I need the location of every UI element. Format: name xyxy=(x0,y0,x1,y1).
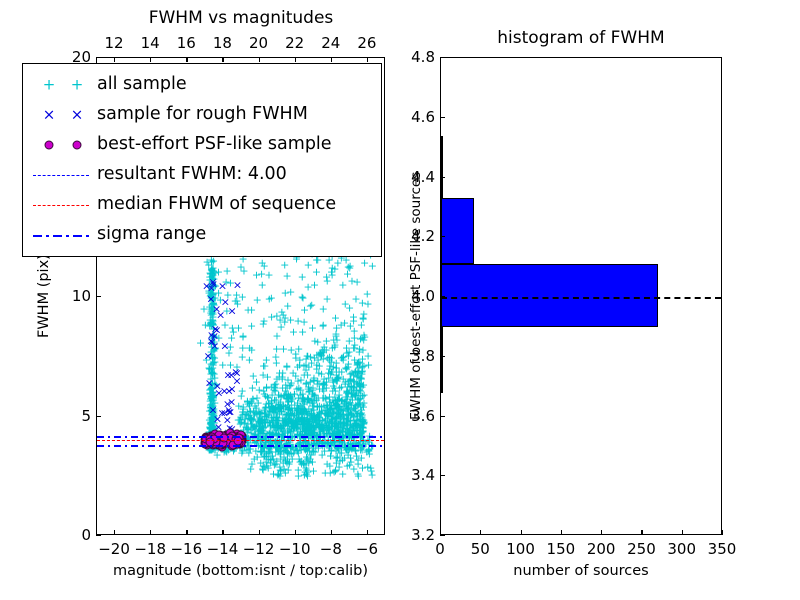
histogram-reference-line xyxy=(441,297,721,299)
scatter-point-all-sample: + xyxy=(337,411,346,422)
scatter-point-all-sample: + xyxy=(235,415,244,426)
scatter-point-all-sample: + xyxy=(316,422,325,433)
scatter-point-all-sample: + xyxy=(207,337,216,348)
scatter-point-all-sample: + xyxy=(286,416,295,427)
scatter-point-all-sample: + xyxy=(348,388,357,399)
scatter-point-all-sample: + xyxy=(250,454,259,465)
scatter-point-all-sample: + xyxy=(277,445,286,456)
legend-item-2[interactable]: best-effort PSF-like sample xyxy=(23,130,381,160)
scatter-point-all-sample: + xyxy=(206,401,215,412)
scatter-point-all-sample: + xyxy=(331,363,340,374)
scatter-point-all-sample: + xyxy=(209,256,218,267)
scatter-point-all-sample: + xyxy=(328,385,337,396)
scatter-point-all-sample: + xyxy=(286,407,295,418)
legend-marker-dot-icon xyxy=(73,141,82,150)
scatter-point-all-sample: + xyxy=(337,367,346,378)
scatter-point-all-sample: + xyxy=(219,447,228,458)
scatter-point-all-sample: + xyxy=(243,406,252,417)
scatter-point-all-sample: + xyxy=(330,391,339,402)
scatter-point-all-sample: + xyxy=(281,418,290,429)
scatter-point-all-sample: + xyxy=(367,466,376,477)
scatter-point-all-sample: + xyxy=(308,398,317,409)
scatter-point-all-sample: + xyxy=(358,391,367,402)
scatter-point-rough-sample: × xyxy=(220,407,229,418)
scatter-point-all-sample: + xyxy=(352,429,361,440)
scatter-point-all-sample: + xyxy=(331,464,340,475)
scatter-point-all-sample: + xyxy=(336,320,345,331)
scatter-point-all-sample: + xyxy=(208,407,217,418)
scatter-point-all-sample: + xyxy=(349,425,358,436)
scatter-point-all-sample: + xyxy=(353,408,362,419)
scatter-point-all-sample: + xyxy=(285,403,294,414)
scatter-point-all-sample: + xyxy=(240,437,249,448)
scatter-point-all-sample: + xyxy=(238,406,247,417)
scatter-point-all-sample: + xyxy=(307,420,316,431)
scatter-point-all-sample: + xyxy=(267,415,276,426)
scatter-point-all-sample: + xyxy=(323,410,332,421)
scatter-point-all-sample: + xyxy=(315,383,324,394)
scatter-point-all-sample: + xyxy=(266,420,275,431)
scatter-point-all-sample: + xyxy=(353,429,362,440)
histogram-bar xyxy=(441,327,443,393)
scatter-point-all-sample: + xyxy=(278,382,287,393)
scatter-point-all-sample: + xyxy=(291,415,300,426)
scatter-point-all-sample: + xyxy=(208,392,217,403)
scatter-point-all-sample: + xyxy=(204,286,213,297)
scatter-point-all-sample: + xyxy=(208,367,217,378)
scatter-point-all-sample: + xyxy=(317,420,326,431)
scatter-point-all-sample: + xyxy=(357,452,366,463)
scatter-point-psf-sample xyxy=(216,431,225,440)
scatter-point-all-sample: + xyxy=(264,398,273,409)
scatter-point-all-sample: + xyxy=(286,391,295,402)
tick-label: −8 xyxy=(320,540,342,558)
scatter-point-all-sample: + xyxy=(344,350,353,361)
scatter-point-all-sample: + xyxy=(325,403,334,414)
scatter-point-all-sample: + xyxy=(268,401,277,412)
scatter-point-all-sample: + xyxy=(304,457,313,468)
scatter-point-all-sample: + xyxy=(257,269,266,280)
scatter-point-all-sample: + xyxy=(269,419,278,430)
legend-key-dot-icon xyxy=(23,130,97,160)
tick-label: −12 xyxy=(243,540,275,558)
scatter-point-all-sample: + xyxy=(329,381,338,392)
scatter-point-all-sample: + xyxy=(296,415,305,426)
scatter-point-all-sample: + xyxy=(296,406,305,417)
scatter-point-all-sample: + xyxy=(272,412,281,423)
scatter-point-all-sample: + xyxy=(310,447,319,458)
scatter-point-all-sample: + xyxy=(298,409,307,420)
scatter-point-all-sample: + xyxy=(303,424,312,435)
scatter-point-all-sample: + xyxy=(294,412,303,423)
scatter-point-all-sample: + xyxy=(346,368,355,379)
scatter-point-all-sample: + xyxy=(206,369,215,380)
scatter-point-all-sample: + xyxy=(321,392,330,403)
scatter-point-all-sample: + xyxy=(349,464,358,475)
scatter-point-all-sample: + xyxy=(209,410,218,421)
legend-item-1[interactable]: ××sample for rough FWHM xyxy=(23,100,381,130)
scatter-point-all-sample: + xyxy=(206,281,215,292)
scatter-point-all-sample: + xyxy=(223,290,232,301)
scatter-point-all-sample: + xyxy=(331,399,340,410)
scatter-point-all-sample: + xyxy=(334,422,343,433)
scatter-point-all-sample: + xyxy=(331,417,340,428)
scatter-point-all-sample: + xyxy=(272,419,281,430)
scatter-point-all-sample: + xyxy=(207,408,216,419)
scatter-point-all-sample: + xyxy=(318,421,327,432)
scatter-point-all-sample: + xyxy=(266,406,275,417)
scatter-point-all-sample: + xyxy=(327,357,336,368)
scatter-point-all-sample: + xyxy=(272,401,281,412)
scatter-point-all-sample: + xyxy=(324,425,333,436)
scatter-point-all-sample: + xyxy=(302,422,311,433)
scatter-point-all-sample: + xyxy=(211,343,220,354)
scatter-point-all-sample: + xyxy=(338,429,347,440)
scatter-point-all-sample: + xyxy=(260,411,269,422)
scatter-point-all-sample: + xyxy=(323,403,332,414)
scatter-point-all-sample: + xyxy=(232,295,241,306)
scatter-point-all-sample: + xyxy=(358,423,367,434)
scatter-point-all-sample: + xyxy=(292,403,301,414)
scatter-point-all-sample: + xyxy=(213,449,222,460)
scatter-point-all-sample: + xyxy=(209,323,218,334)
scatter-point-all-sample: + xyxy=(328,263,337,274)
scatter-point-all-sample: + xyxy=(202,355,211,366)
scatter-point-all-sample: + xyxy=(319,425,328,436)
scatter-point-all-sample: + xyxy=(325,460,334,471)
scatter-point-all-sample: + xyxy=(334,405,343,416)
scatter-point-all-sample: + xyxy=(316,351,325,362)
scatter-point-all-sample: + xyxy=(207,367,216,378)
scatter-point-all-sample: + xyxy=(243,399,252,410)
scatter-point-all-sample: + xyxy=(210,429,219,440)
scatter-point-all-sample: + xyxy=(280,313,289,324)
scatter-point-all-sample: + xyxy=(299,419,308,430)
scatter-point-all-sample: + xyxy=(329,398,338,409)
scatter-point-all-sample: + xyxy=(318,424,327,435)
scatter-point-all-sample: + xyxy=(282,388,291,399)
scatter-point-all-sample: + xyxy=(309,421,318,432)
scatter-point-all-sample: + xyxy=(243,437,252,448)
scatter-point-all-sample: + xyxy=(208,352,217,363)
tick-label: −20 xyxy=(98,540,130,558)
scatter-point-all-sample: + xyxy=(338,352,347,363)
scatter-point-all-sample: + xyxy=(277,404,286,415)
scatter-point-all-sample: + xyxy=(329,397,338,408)
scatter-point-all-sample: + xyxy=(350,367,359,378)
scatter-point-all-sample: + xyxy=(257,416,266,427)
scatter-point-all-sample: + xyxy=(206,292,215,303)
scatter-point-all-sample: + xyxy=(339,374,348,385)
scatter-point-all-sample: + xyxy=(300,421,309,432)
scatter-point-all-sample: + xyxy=(363,462,372,473)
scatter-point-all-sample: + xyxy=(358,414,367,425)
scatter-point-all-sample: + xyxy=(359,417,368,428)
scatter-point-all-sample: + xyxy=(206,422,215,433)
scatter-point-all-sample: + xyxy=(311,412,320,423)
scatter-point-all-sample: + xyxy=(345,260,354,271)
scatter-point-all-sample: + xyxy=(236,261,245,272)
scatter-point-all-sample: + xyxy=(304,433,313,444)
scatter-point-all-sample: + xyxy=(214,287,223,298)
scatter-point-all-sample: + xyxy=(343,361,352,372)
scatter-point-all-sample: + xyxy=(335,393,344,404)
legend-item-0[interactable]: ++all sample xyxy=(23,70,381,100)
legend-item-5[interactable]: sigma range xyxy=(23,220,381,250)
scatter-point-all-sample: + xyxy=(279,419,288,430)
scatter-point-all-sample: + xyxy=(350,415,359,426)
scatter-point-all-sample: + xyxy=(326,405,335,416)
scatter-point-all-sample: + xyxy=(284,404,293,415)
scatter-point-all-sample: + xyxy=(234,322,243,333)
scatter-point-all-sample: + xyxy=(349,315,358,326)
scatter-point-all-sample: + xyxy=(358,463,367,474)
scatter-point-all-sample: + xyxy=(283,447,292,458)
scatter-point-all-sample: + xyxy=(267,382,276,393)
scatter-point-all-sample: + xyxy=(347,430,356,441)
scatter-point-all-sample: + xyxy=(330,425,339,436)
scatter-point-all-sample: + xyxy=(305,421,314,432)
scatter-point-all-sample: + xyxy=(255,411,264,422)
scatter-point-all-sample: + xyxy=(284,415,293,426)
scatter-point-all-sample: + xyxy=(327,411,336,422)
scatter-point-all-sample: + xyxy=(252,408,261,419)
scatter-point-all-sample: + xyxy=(302,426,311,437)
scatter-point-all-sample: + xyxy=(280,317,289,328)
scatter-point-all-sample: + xyxy=(348,429,357,440)
scatter-point-all-sample: + xyxy=(255,408,264,419)
scatter-point-all-sample: + xyxy=(309,422,318,433)
tick-label: 22 xyxy=(285,34,304,52)
scatter-point-all-sample: + xyxy=(276,390,285,401)
scatter-point-all-sample: + xyxy=(315,407,324,418)
scatter-point-all-sample: + xyxy=(307,422,316,433)
scatter-point-all-sample: + xyxy=(207,306,216,317)
scatter-point-all-sample: + xyxy=(209,344,218,355)
scatter-point-all-sample: + xyxy=(347,388,356,399)
scatter-point-rough-sample: × xyxy=(225,406,234,417)
scatter-point-all-sample: + xyxy=(209,412,218,423)
scatter-point-all-sample: + xyxy=(208,421,217,432)
scatter-point-all-sample: + xyxy=(258,426,267,437)
scatter-point-all-sample: + xyxy=(276,396,285,407)
scatter-point-all-sample: + xyxy=(276,448,285,459)
scatter-point-all-sample: + xyxy=(336,417,345,428)
scatter-point-all-sample: + xyxy=(277,406,286,417)
scatter-point-all-sample: + xyxy=(290,389,299,400)
scatter-point-all-sample: + xyxy=(208,389,217,400)
scatter-point-all-sample: + xyxy=(287,449,296,460)
scatter-point-all-sample: + xyxy=(208,297,217,308)
scatter-point-all-sample: + xyxy=(333,372,342,383)
scatter-point-all-sample: + xyxy=(274,372,283,383)
scatter-point-all-sample: + xyxy=(356,394,365,405)
scatter-point-all-sample: + xyxy=(207,263,216,274)
scatter-point-all-sample: + xyxy=(256,425,265,436)
scatter-point-all-sample: + xyxy=(208,335,217,346)
scatter-point-all-sample: + xyxy=(334,425,343,436)
scatter-point-all-sample: + xyxy=(283,301,292,312)
scatter-point-psf-sample xyxy=(218,442,227,451)
scatter-point-rough-sample: × xyxy=(224,404,233,415)
scatter-point-all-sample: + xyxy=(346,419,355,430)
scatter-point-all-sample: + xyxy=(355,413,364,424)
scatter-point-rough-sample: × xyxy=(227,369,236,380)
scatter-point-all-sample: + xyxy=(207,407,216,418)
scatter-point-all-sample: + xyxy=(281,456,290,467)
scatter-point-all-sample: + xyxy=(349,411,358,422)
scatter-point-all-sample: + xyxy=(286,406,295,417)
scatter-point-all-sample: + xyxy=(227,332,236,343)
scatter-point-all-sample: + xyxy=(353,426,362,437)
scatter-point-all-sample: + xyxy=(285,402,294,413)
scatter-point-all-sample: + xyxy=(271,405,280,416)
scatter-point-all-sample: + xyxy=(273,422,282,433)
scatter-point-all-sample: + xyxy=(329,377,338,388)
scatter-point-all-sample: + xyxy=(327,446,336,457)
scatter-point-all-sample: + xyxy=(208,358,217,369)
scatter-point-all-sample: + xyxy=(283,416,292,427)
scatter-point-all-sample: + xyxy=(354,407,363,418)
scatter-point-all-sample: + xyxy=(259,385,268,396)
scatter-point-all-sample: + xyxy=(208,369,217,380)
scatter-point-all-sample: + xyxy=(207,413,216,424)
scatter-point-all-sample: + xyxy=(308,400,317,411)
tick-label: 18 xyxy=(213,34,232,52)
scatter-point-all-sample: + xyxy=(207,309,216,320)
scatter-point-all-sample: + xyxy=(205,384,214,395)
scatter-point-all-sample: + xyxy=(222,306,231,317)
scatter-point-all-sample: + xyxy=(244,448,253,459)
scatter-point-all-sample: + xyxy=(214,332,223,343)
scatter-point-all-sample: + xyxy=(261,412,270,423)
scatter-point-all-sample: + xyxy=(323,458,332,469)
scatter-point-all-sample: + xyxy=(298,326,307,337)
scatter-point-all-sample: + xyxy=(207,425,216,436)
scatter-point-all-sample: + xyxy=(267,412,276,423)
scatter-point-all-sample: + xyxy=(247,305,256,316)
scatter-point-all-sample: + xyxy=(276,447,285,458)
scatter-point-all-sample: + xyxy=(355,378,364,389)
scatter-point-all-sample: + xyxy=(208,441,217,452)
scatter-point-all-sample: + xyxy=(295,354,304,365)
scatter-point-all-sample: + xyxy=(313,414,322,425)
scatter-point-all-sample: + xyxy=(262,452,271,463)
scatter-point-all-sample: + xyxy=(316,421,325,432)
scatter-point-all-sample: + xyxy=(222,266,231,277)
scatter-point-all-sample: + xyxy=(315,416,324,427)
scatter-point-all-sample: + xyxy=(286,380,295,391)
scatter-point-all-sample: + xyxy=(358,409,367,420)
scatter-point-all-sample: + xyxy=(291,349,300,360)
scatter-point-all-sample: + xyxy=(272,412,281,423)
scatter-point-all-sample: + xyxy=(275,409,284,420)
scatter-point-all-sample: + xyxy=(205,388,214,399)
scatter-point-all-sample: + xyxy=(353,277,362,288)
scatter-point-all-sample: + xyxy=(342,387,351,398)
scatter-point-all-sample: + xyxy=(269,406,278,417)
scatter-point-all-sample: + xyxy=(207,256,216,267)
scatter-point-all-sample: + xyxy=(209,412,218,423)
tick-label: 24 xyxy=(321,34,340,52)
scatter-point-all-sample: + xyxy=(208,409,217,420)
scatter-point-all-sample: + xyxy=(208,410,217,421)
scatter-point-all-sample: + xyxy=(214,267,223,278)
scatter-point-all-sample: + xyxy=(289,423,298,434)
scatter-point-all-sample: + xyxy=(207,438,216,449)
scatter-point-all-sample: + xyxy=(208,295,217,306)
scatter-point-all-sample: + xyxy=(337,394,346,405)
scatter-point-all-sample: + xyxy=(346,442,355,453)
scatter-point-all-sample: + xyxy=(324,423,333,434)
scatter-point-all-sample: + xyxy=(314,411,323,422)
scatter-point-all-sample: + xyxy=(328,270,337,281)
scatter-point-all-sample: + xyxy=(312,412,321,423)
scatter-point-all-sample: + xyxy=(287,423,296,434)
scatter-point-all-sample: + xyxy=(206,433,215,444)
scatter-point-all-sample: + xyxy=(364,351,373,362)
scatter-point-all-sample: + xyxy=(320,345,329,356)
scatter-point-all-sample: + xyxy=(261,391,270,402)
scatter-point-all-sample: + xyxy=(210,343,219,354)
scatter-point-all-sample: + xyxy=(310,353,319,364)
scatter-point-all-sample: + xyxy=(206,416,215,427)
scatter-point-all-sample: + xyxy=(356,415,365,426)
scatter-point-all-sample: + xyxy=(268,430,277,441)
scatter-point-all-sample: + xyxy=(229,446,238,457)
scatter-point-all-sample: + xyxy=(251,429,260,440)
scatter-point-all-sample: + xyxy=(333,451,342,462)
tick-mark xyxy=(96,535,101,536)
scatter-point-all-sample: + xyxy=(206,288,215,299)
tick-label: −10 xyxy=(279,540,311,558)
scatter-point-all-sample: + xyxy=(269,454,278,465)
scatter-point-all-sample: + xyxy=(354,387,363,398)
scatter-point-all-sample: + xyxy=(279,423,288,434)
scatter-point-all-sample: + xyxy=(206,418,215,429)
legend-item-4[interactable]: median FHWM of sequence xyxy=(23,190,381,220)
scatter-point-all-sample: + xyxy=(206,388,215,399)
legend-item-3[interactable]: resultant FWHM: 4.00 xyxy=(23,160,381,190)
scatter-point-all-sample: + xyxy=(279,390,288,401)
legend-line-dashdot-icon xyxy=(33,235,89,237)
scatter-point-all-sample: + xyxy=(304,420,313,431)
scatter-point-all-sample: + xyxy=(333,403,342,414)
scatter-point-all-sample: + xyxy=(284,417,293,428)
scatter-point-all-sample: + xyxy=(354,399,363,410)
scatter-point-all-sample: + xyxy=(279,463,288,474)
scatter-point-all-sample: + xyxy=(285,403,294,414)
scatter-point-all-sample: + xyxy=(332,414,341,425)
scatter-point-all-sample: + xyxy=(283,448,292,459)
scatter-point-all-sample: + xyxy=(328,421,337,432)
scatter-point-all-sample: + xyxy=(239,407,248,418)
scatter-point-all-sample: + xyxy=(354,423,363,434)
scatter-point-all-sample: + xyxy=(278,412,287,423)
scatter-point-all-sample: + xyxy=(297,403,306,414)
scatter-point-all-sample: + xyxy=(301,378,310,389)
scatter-point-all-sample: + xyxy=(264,447,273,458)
scatter-point-all-sample: + xyxy=(358,353,367,364)
scatter-point-all-sample: + xyxy=(342,424,351,435)
scatter-point-all-sample: + xyxy=(351,366,360,377)
scatter-point-all-sample: + xyxy=(210,379,219,390)
scatter-point-all-sample: + xyxy=(355,358,364,369)
scatter-point-all-sample: + xyxy=(360,257,369,268)
scatter-point-all-sample: + xyxy=(356,423,365,434)
scatter-point-all-sample: + xyxy=(291,353,300,364)
scatter-point-all-sample: + xyxy=(324,421,333,432)
